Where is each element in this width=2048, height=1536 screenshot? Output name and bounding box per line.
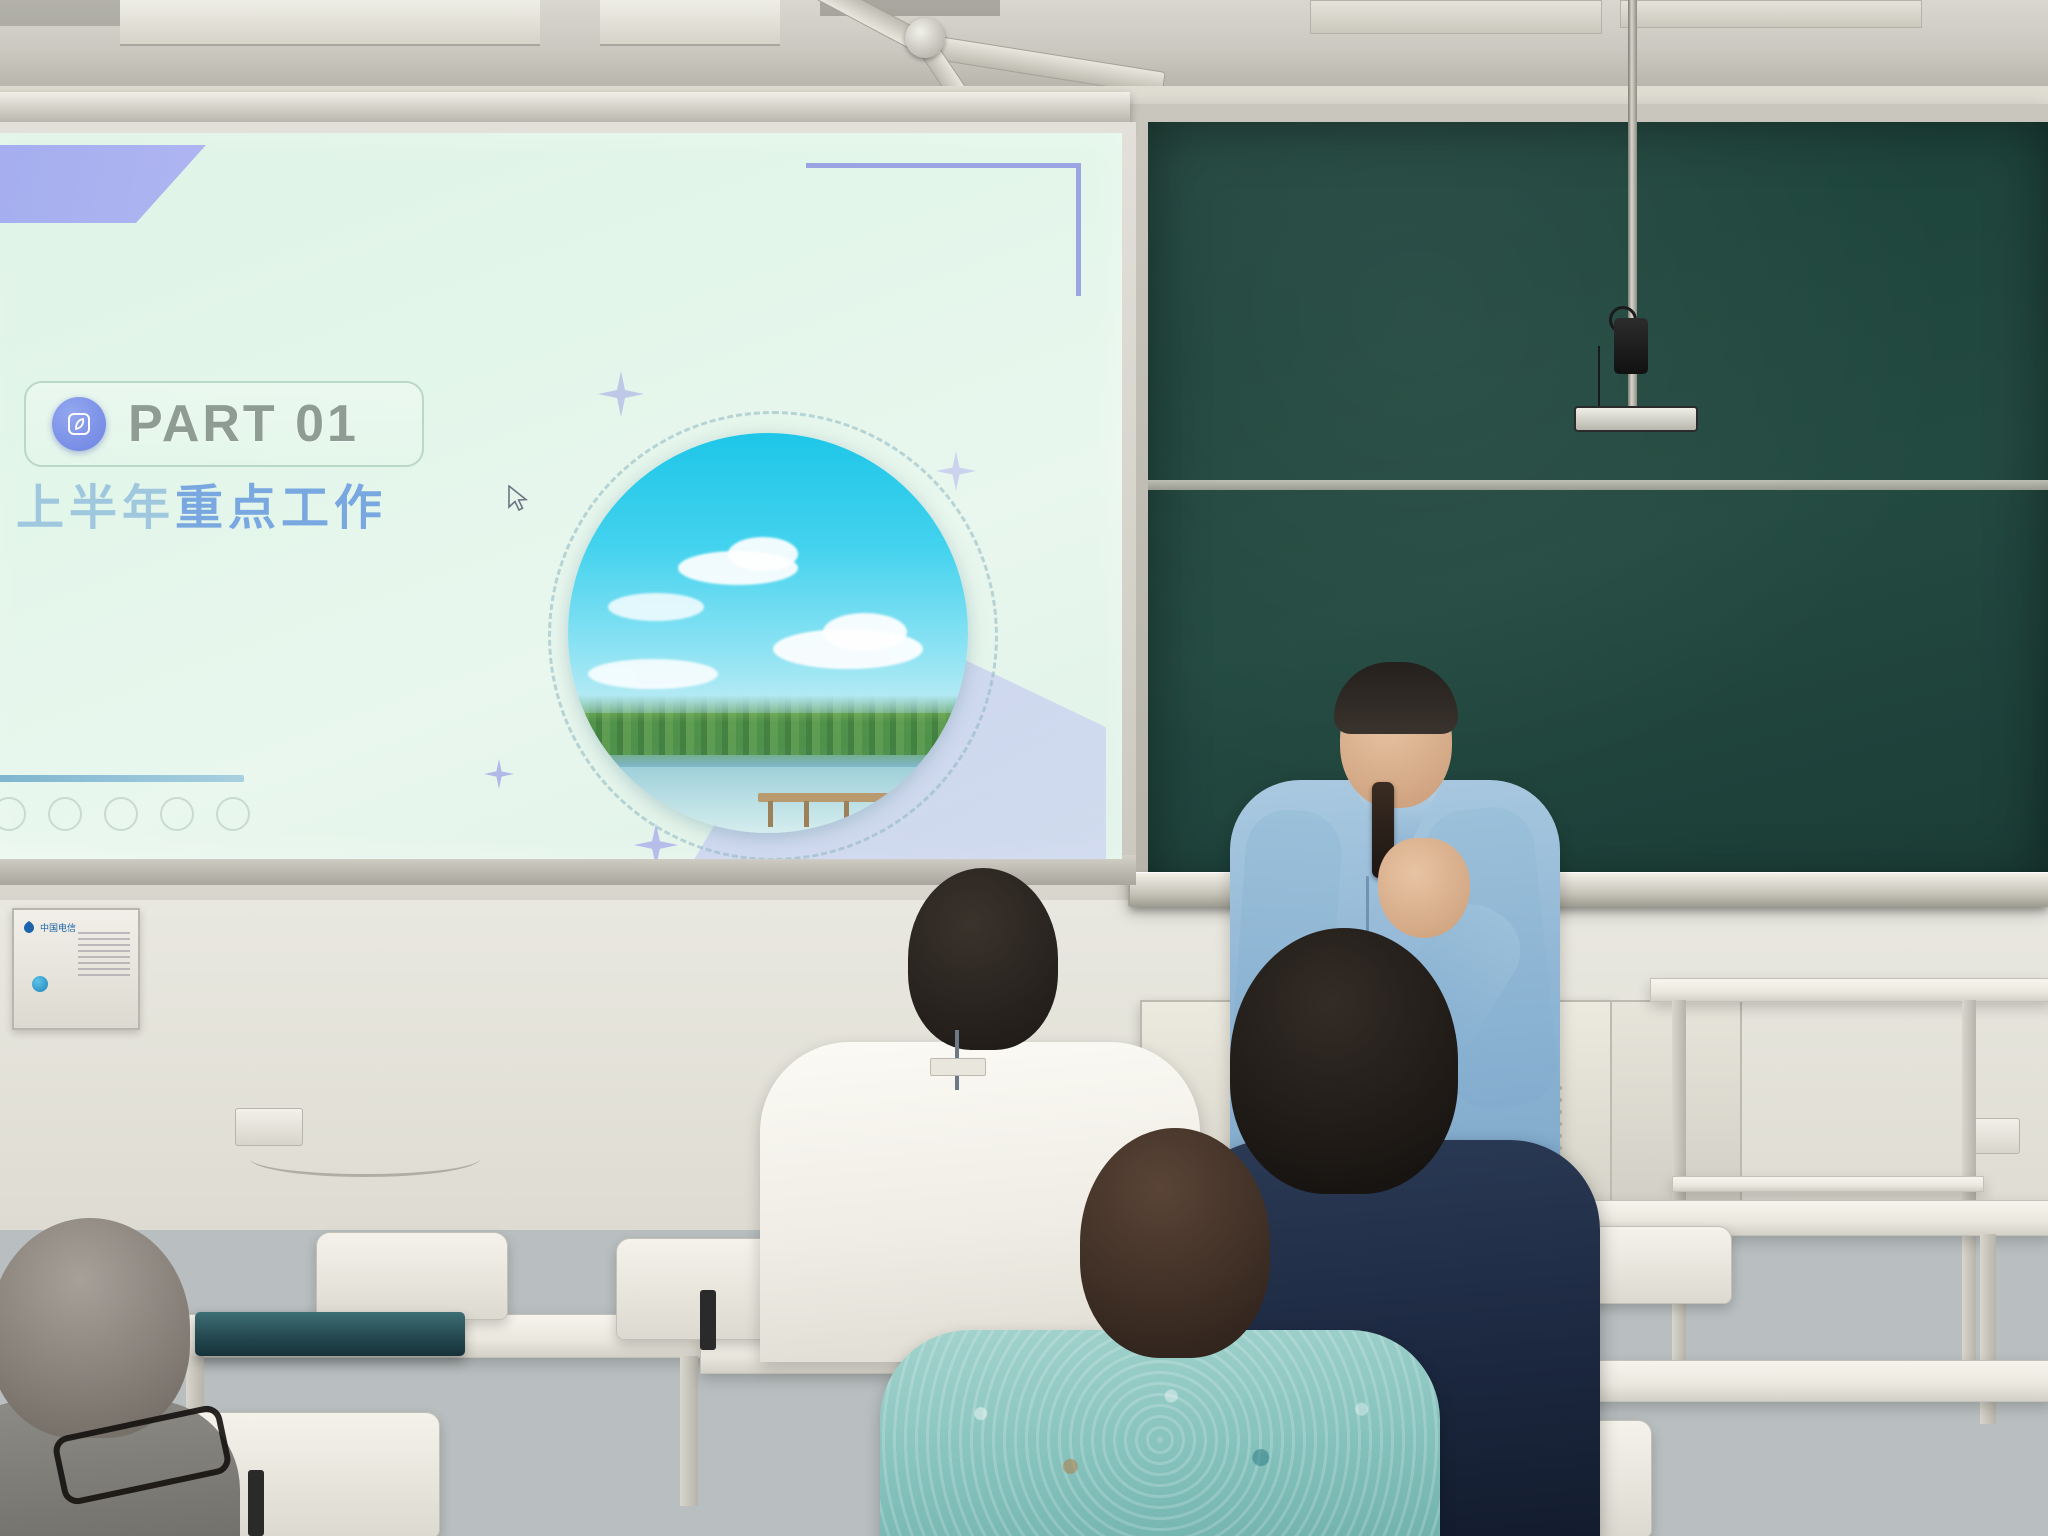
attendee-3-head [1080, 1128, 1270, 1358]
four-point-star [598, 371, 644, 422]
slide-subtitle-bold: 重点工作 [175, 482, 387, 535]
four-point-star [484, 759, 514, 794]
slide-subtitle-light: 上半年 [16, 482, 175, 535]
slide-decor-corner-frame [806, 163, 1081, 296]
ceiling-panel [120, 0, 540, 46]
slide-progress-bar [0, 775, 244, 782]
projected-slide: PART 01 上半年重点工作 [0, 133, 1122, 859]
presenter-hand [1378, 838, 1470, 938]
slide-part-label: PART 01 [128, 398, 359, 450]
chair-post [248, 1470, 264, 1536]
telecom-equipment-box: 中国电信 [12, 908, 140, 1030]
pier [758, 793, 908, 827]
ceiling-panel [600, 0, 780, 46]
classroom-photo: PART 01 上半年重点工作 [0, 0, 2048, 1536]
side-table-shelf [1672, 1176, 1984, 1192]
slide-toolbar [0, 797, 250, 831]
telecom-logo: 中国电信 [22, 920, 76, 934]
attendee-4-head [0, 1218, 190, 1438]
desk [1530, 1360, 2048, 1402]
four-point-star [634, 823, 678, 859]
ceiling-shadow [0, 0, 120, 26]
chair[interactable] [316, 1232, 508, 1320]
slide-photo-circle [568, 433, 968, 833]
slide-part-badge: PART 01 [24, 381, 424, 467]
leaf-icon [52, 397, 106, 451]
slide-subtitle: 上半年重点工作 [16, 485, 387, 533]
four-point-star [936, 451, 976, 496]
attendee-3-blouse [880, 1330, 1440, 1536]
wall-cable [250, 1140, 480, 1177]
highlighter-icon[interactable] [104, 797, 138, 831]
attendee-2-head [1230, 928, 1458, 1194]
mouse-cursor [508, 485, 530, 518]
attendee-1-badge [930, 1058, 986, 1076]
more-icon[interactable] [216, 797, 250, 831]
chalkboard [1148, 122, 2048, 890]
ceiling-tile [1310, 0, 1602, 34]
slide-decor-purple-top [0, 145, 206, 223]
chalkboard-rail-upper [1148, 480, 2048, 490]
pen-icon[interactable] [48, 797, 82, 831]
closed-laptop[interactable] [195, 1312, 465, 1356]
ceiling-tile [1620, 0, 1922, 28]
attendee-1-head [908, 868, 1058, 1050]
telecom-vents [78, 932, 130, 980]
telecom-label: 中国电信 [40, 921, 76, 934]
check-icon[interactable] [0, 797, 26, 831]
telecom-indicator [32, 976, 48, 992]
pointer-icon[interactable] [160, 797, 194, 831]
side-table [1650, 978, 2048, 1002]
chair-post [700, 1290, 716, 1350]
